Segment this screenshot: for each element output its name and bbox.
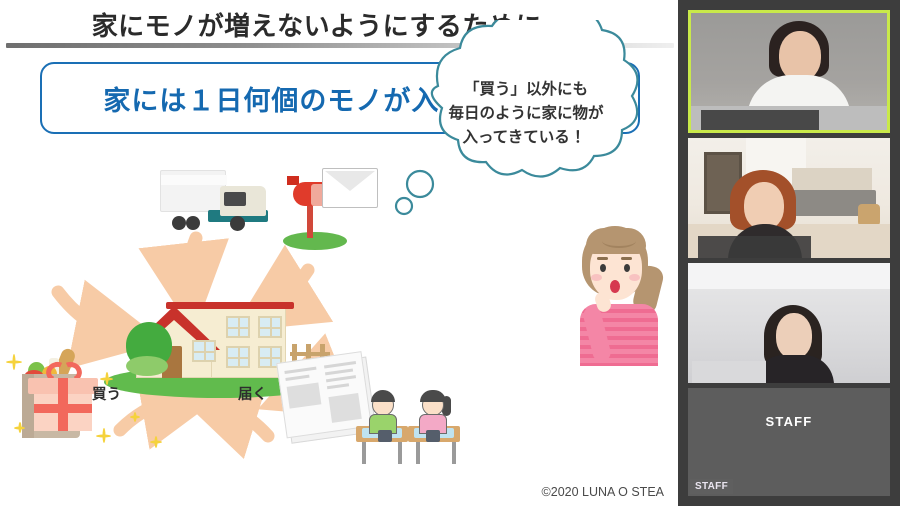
school-children-icon: [356, 382, 466, 468]
copyright-notice: ©2020 LUNA O STEA: [0, 485, 672, 499]
presentation-slide: 家にモノが増えないようにするために… 家には１日何個のモノが入ってくる？: [0, 0, 678, 506]
label-buy: 買う: [92, 383, 121, 404]
thought-bubble-text: 「買う」以外にも 毎日のように家に物が 入ってきている ！: [392, 78, 660, 150]
video-tile-participant-2[interactable]: [688, 138, 890, 258]
sparkle-icon: [14, 422, 25, 433]
delivery-truck-icon: [160, 166, 278, 238]
sparkle-icon: [96, 428, 111, 443]
thinking-person-illustration: [566, 222, 670, 366]
envelope-icon: [322, 168, 378, 208]
sparkle-icon: [6, 354, 22, 370]
sparkle-icon: [130, 412, 140, 422]
label-delivered: 届く: [238, 383, 267, 404]
sparkle-icon: [150, 436, 162, 448]
video-tile-participant-3[interactable]: [688, 263, 890, 383]
participant-video-panel: STAFF STAFF: [678, 0, 900, 506]
video-tile-participant-1[interactable]: [688, 10, 890, 133]
staff-center-label: STAFF: [688, 414, 890, 429]
staff-name-badge: STAFF: [690, 479, 733, 494]
screen-share-window: 家にモノが増えないようにするために… 家には１日何個のモノが入ってくる？: [0, 0, 900, 506]
video-tile-staff[interactable]: STAFF STAFF: [688, 388, 890, 496]
